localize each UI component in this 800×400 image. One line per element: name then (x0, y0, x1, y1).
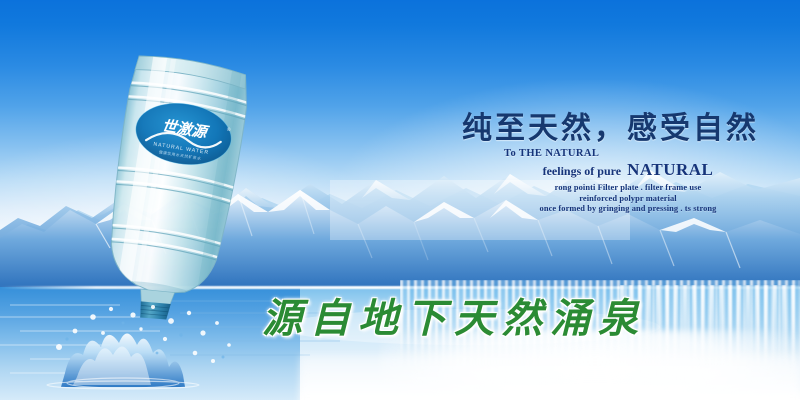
english-small-line-2: reinforced polypr material (498, 194, 758, 205)
advertisement-banner: 世激源 ® NATURAL WATER 健康饮用水天然矿泉水 (0, 0, 800, 400)
english-line-2-prefix: feelings of pure (543, 164, 621, 178)
english-detail-lines: rong pointi Filter plate . filter frame … (498, 183, 758, 215)
english-line-2: feelings of pureNATURAL (498, 160, 758, 180)
water-splash (45, 295, 245, 390)
english-line-2-emphasis: NATURAL (627, 160, 713, 179)
english-small-line-3: once formed by gringing and pressing . t… (498, 204, 758, 215)
english-small-line-1: rong pointi Filter plate . filter frame … (498, 183, 758, 194)
page-title: 纯至天然，感受自然 (462, 103, 759, 147)
waterfall-mist-lower (300, 355, 800, 400)
slogan-text: 源自地下天然涌泉 (262, 286, 646, 344)
english-line-1: To THE NATURAL (504, 148, 758, 159)
english-copy-block: To THE NATURAL feelings of pureNATURAL r… (498, 148, 758, 215)
